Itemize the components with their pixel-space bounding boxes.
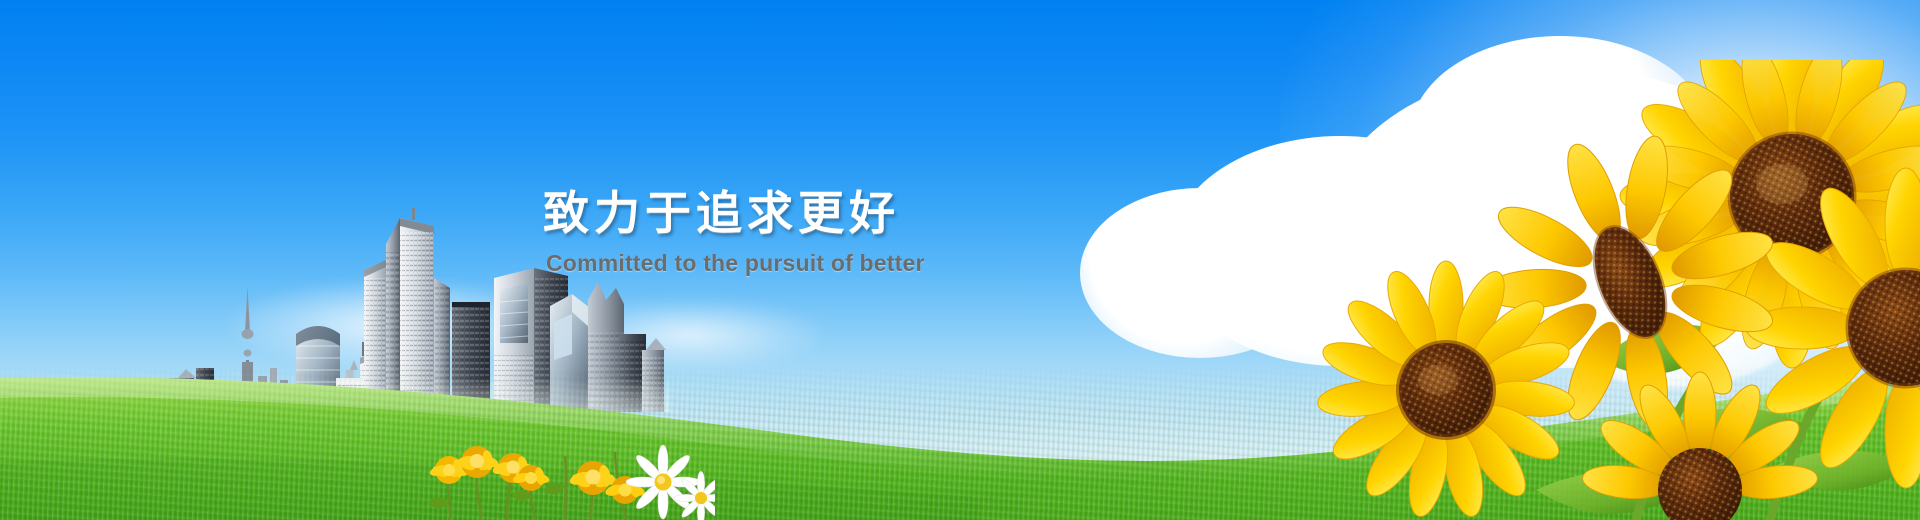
page-subtitle: Committed to the pursuit of better bbox=[546, 250, 1103, 277]
hero-banner: 致力于追求更好 Committed to the pursuit of bett… bbox=[0, 0, 1920, 520]
banner-copy: 致力于追求更好 Committed to the pursuit of bett… bbox=[543, 186, 1103, 277]
dandelion-flowers bbox=[429, 446, 646, 504]
sunflower-cluster bbox=[1300, 60, 1920, 520]
dandelion-and-daisy-cluster bbox=[415, 390, 715, 520]
page-title: 致力于追求更好 bbox=[543, 186, 1103, 240]
